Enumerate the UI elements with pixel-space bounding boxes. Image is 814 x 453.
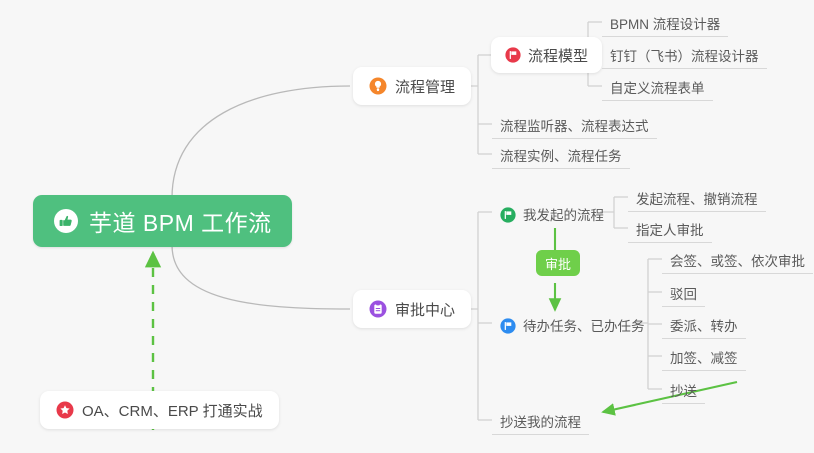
leaf-label: 钉钉（飞书）流程设计器 (610, 45, 759, 65)
lightbulb-pin-icon (369, 77, 387, 95)
node-label: 我发起的流程 (523, 204, 604, 224)
leaf-custom-form[interactable]: 自定义流程表单 (602, 71, 713, 101)
badge-label: 审批 (545, 254, 571, 273)
leaf-label: 流程实例、流程任务 (500, 145, 622, 165)
branch-process-management[interactable]: 流程管理 (353, 67, 471, 105)
link-root-to-approval-center (172, 245, 350, 309)
root-label: 芋道 BPM 工作流 (89, 204, 272, 238)
leaf-cc[interactable]: 抄送 (662, 374, 705, 404)
footnote-node[interactable]: OA、CRM、ERP 打通实战 (40, 391, 279, 429)
thumbs-up-icon (53, 208, 79, 234)
leaf-bpmn-designer[interactable]: BPMN 流程设计器 (602, 7, 728, 37)
mindmap-canvas: 芋道 BPM 工作流 流程管理 流程模型 BPMN 流程设计器 钉钉（飞书）流程… (0, 0, 814, 453)
clipboard-icon (369, 300, 387, 318)
leaf-cc-to-me[interactable]: 抄送我的流程 (492, 405, 589, 435)
leaf-delegate-transfer[interactable]: 委派、转办 (662, 309, 746, 339)
leaf-assignee-approval[interactable]: 指定人审批 (628, 213, 712, 243)
star-icon (56, 401, 74, 419)
leaf-label: 会签、或签、依次审批 (670, 250, 805, 270)
leaf-reject[interactable]: 驳回 (662, 277, 705, 307)
node-label: 待办任务、已办任务 (523, 315, 645, 335)
link-root-to-process-management (172, 86, 350, 198)
leaf-process-instance[interactable]: 流程实例、流程任务 (492, 139, 630, 169)
branch-approval-center[interactable]: 审批中心 (353, 290, 471, 328)
leaf-add-remove-sign[interactable]: 加签、减签 (662, 341, 746, 371)
leaf-label: 发起流程、撤销流程 (636, 188, 758, 208)
leaf-start-cancel-process[interactable]: 发起流程、撤销流程 (628, 182, 766, 212)
approve-badge: 审批 (536, 250, 580, 276)
root-node[interactable]: 芋道 BPM 工作流 (33, 195, 292, 247)
leaf-countersign[interactable]: 会签、或签、依次审批 (662, 244, 813, 274)
node-my-started-process[interactable]: 我发起的流程 (492, 197, 612, 227)
leaf-dingtalk-designer[interactable]: 钉钉（飞书）流程设计器 (602, 39, 767, 69)
node-todo-done-tasks[interactable]: 待办任务、已办任务 (492, 308, 653, 338)
leaf-label: 指定人审批 (636, 219, 704, 239)
branch-label: 审批中心 (395, 299, 455, 320)
flag-icon (505, 47, 521, 63)
leaf-label: 加签、减签 (670, 347, 738, 367)
flag-icon (500, 207, 516, 223)
flag-icon (500, 318, 516, 334)
leaf-label: 自定义流程表单 (610, 77, 705, 97)
leaf-label: 委派、转办 (670, 315, 738, 335)
leaf-label: 抄送我的流程 (500, 411, 581, 431)
leaf-label: 驳回 (670, 283, 697, 303)
footnote-label: OA、CRM、ERP 打通实战 (82, 400, 263, 421)
node-label: 流程模型 (528, 45, 588, 66)
node-process-model[interactable]: 流程模型 (491, 37, 602, 73)
leaf-label: BPMN 流程设计器 (610, 13, 720, 33)
leaf-label: 流程监听器、流程表达式 (500, 115, 649, 135)
branch-label: 流程管理 (395, 76, 455, 97)
leaf-process-listener[interactable]: 流程监听器、流程表达式 (492, 109, 657, 139)
leaf-label: 抄送 (670, 380, 697, 400)
